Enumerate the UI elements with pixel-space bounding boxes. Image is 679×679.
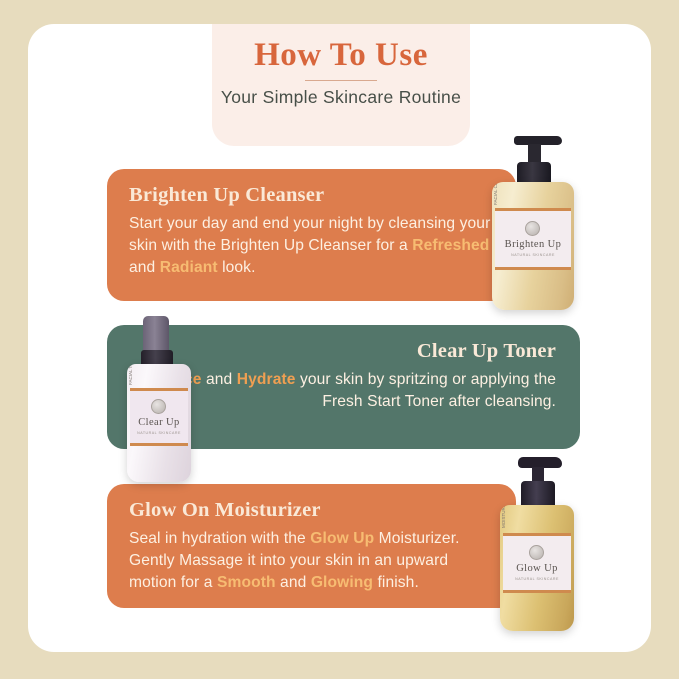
pump-neck-icon	[528, 144, 541, 164]
bottle-side-text: FACIAL TONER	[128, 364, 133, 385]
body-text: and	[276, 574, 311, 591]
highlight-word: Hydrate	[237, 371, 296, 388]
spray-cap-icon	[143, 316, 169, 354]
product-name: Brighten Up	[505, 239, 562, 250]
header-block: How To Use Your Simple Skincare Routine	[212, 24, 470, 146]
step-title: Clear Up Toner	[129, 339, 556, 364]
product-sub-text: NATURAL SKINCARE	[511, 253, 555, 257]
infographic-page: How To Use Your Simple Skincare Routine …	[0, 0, 679, 679]
highlight-word: Glowing	[311, 574, 373, 591]
brand-logo-icon	[529, 545, 544, 560]
body-text: and	[202, 371, 237, 388]
body-text: your skin by spritzing or applying the F…	[296, 371, 556, 410]
product-bottle-glow-up: MOISTURIZER Glow Up NATURAL SKINCARE	[500, 455, 574, 631]
product-name: Glow Up	[516, 563, 558, 574]
step-body: Seal in hydration with the Glow Up Moist…	[129, 528, 494, 595]
brand-logo-icon	[151, 399, 166, 414]
brand-logo-icon	[525, 221, 540, 236]
body-text: look.	[218, 259, 256, 276]
step-title: Glow On Moisturizer	[129, 498, 494, 523]
bottle-side-text: FACIAL CLEANSER	[493, 182, 498, 205]
product-sub-text: NATURAL SKINCARE	[137, 431, 181, 435]
body-text: Seal in hydration with the	[129, 530, 310, 547]
step-body: Balance and Hydrate your skin by spritzi…	[129, 369, 556, 414]
bottle-label: Clear Up NATURAL SKINCARE	[130, 388, 189, 446]
highlight-word: Glow Up	[310, 530, 374, 547]
bottle-label: Glow Up NATURAL SKINCARE	[503, 533, 571, 593]
product-name: Clear Up	[138, 417, 179, 428]
title-divider	[305, 80, 377, 82]
bottle-side-text: MOISTURIZER	[501, 505, 506, 528]
step-card-cleanser: Brighten Up Cleanser Start your day and …	[107, 169, 516, 301]
body-text: finish.	[373, 574, 419, 591]
bottle-label: Brighten Up NATURAL SKINCARE	[495, 208, 570, 270]
product-bottle-brighten-up: FACIAL CLEANSER Brighten Up NATURAL SKIN…	[492, 134, 574, 310]
highlight-word: Radiant	[160, 259, 218, 276]
step-title: Brighten Up Cleanser	[129, 183, 494, 208]
body-text: and	[129, 259, 160, 276]
step-card-moisturizer: Glow On Moisturizer Seal in hydration wi…	[107, 484, 516, 608]
step-body: Start your day and end your night by cle…	[129, 213, 494, 280]
highlight-word: Refreshed	[412, 237, 489, 254]
product-sub-text: NATURAL SKINCARE	[515, 577, 559, 581]
product-bottle-clear-up: FACIAL TONER Clear Up NATURAL SKINCARE	[127, 316, 191, 482]
page-subtitle: Your Simple Skincare Routine	[221, 87, 461, 109]
page-title: How To Use	[254, 38, 428, 73]
highlight-word: Smooth	[217, 574, 276, 591]
